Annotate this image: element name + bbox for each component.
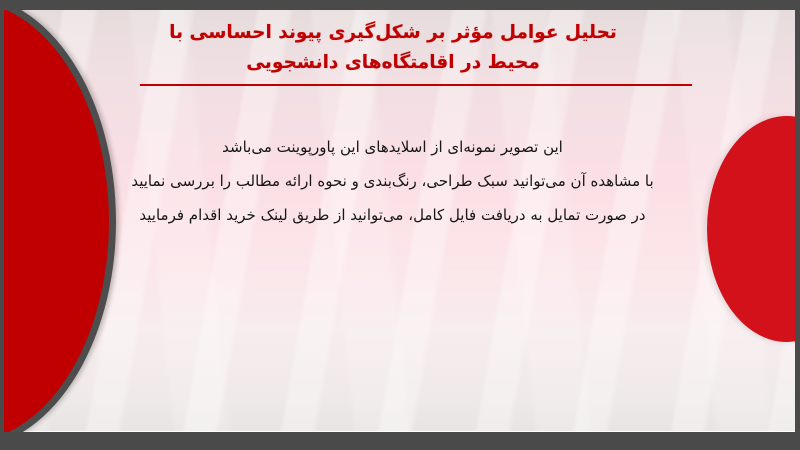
slide-frame-right-edge (795, 0, 800, 450)
slide-title: تحلیل عوامل مؤثر بر شکل‌گیری پیوند احساس… (103, 18, 683, 78)
presentation-slide: تحلیل عوامل مؤثر بر شکل‌گیری پیوند احساس… (0, 0, 800, 450)
body-text-line-2: با مشاهده آن می‌توانید سبک طراحی، رنگ‌بن… (100, 164, 685, 198)
slide-body-text: این تصویر نمونه‌ای از اسلایدهای این پاور… (100, 130, 685, 232)
right-red-circle-decoration (707, 116, 795, 342)
slide-title-line-2: محیط در اقامتگاه‌های دانشجویی (103, 48, 683, 78)
slide-content-panel: تحلیل عوامل مؤثر بر شکل‌گیری پیوند احساس… (4, 10, 795, 432)
body-text-line-1: این تصویر نمونه‌ای از اسلایدهای این پاور… (100, 130, 685, 164)
body-text-line-3: در صورت تمایل به دریافت فایل کامل، می‌تو… (100, 198, 685, 232)
slide-title-line-1: تحلیل عوامل مؤثر بر شکل‌گیری پیوند احساس… (103, 18, 683, 48)
slide-frame-bottom-band (0, 432, 800, 450)
title-underline-rule (140, 84, 692, 86)
slide-frame-top-band (0, 0, 800, 10)
